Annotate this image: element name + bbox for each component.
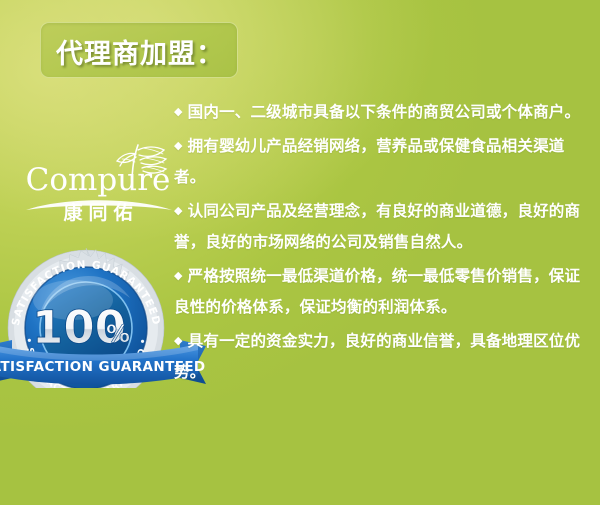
logo-chinese-name: 康同佑 <box>18 198 178 225</box>
badge-percent-symbol: % <box>106 320 130 348</box>
list-item: ◆严格按照统一最低渠道价格，统一最低零售价销售，保证良性的价格体系，保证均衡的利… <box>174 260 586 323</box>
diamond-bullet-icon: ◆ <box>174 334 183 347</box>
diamond-bullet-icon: ◆ <box>174 204 183 217</box>
list-item-text: 具有一定的资金实力，良好的商业信誉，具备地理区位优势。 <box>174 332 580 381</box>
requirements-list: ◆国内一、二级城市具备以下条件的商贸公司或个体商户。 ◆拥有婴幼儿产品经销网络，… <box>174 96 586 390</box>
list-item-text: 认同公司产品及经营理念，有良好的商业道德，良好的商誉，良好的市场网络的公司及销售… <box>174 202 580 251</box>
list-item-text: 国内一、二级城市具备以下条件的商贸公司或个体商户。 <box>188 103 581 121</box>
logo-wordmark: Compure <box>18 162 178 198</box>
brand-logo: Compure 康同佑 <box>18 148 178 226</box>
list-item-text: 拥有婴幼儿产品经销网络，营养品或保健食品相关渠道者。 <box>174 137 564 186</box>
list-item: ◆国内一、二级城市具备以下条件的商贸公司或个体商户。 <box>174 96 586 128</box>
diamond-bullet-icon: ◆ <box>174 105 183 118</box>
page-title: 代理商加盟： <box>41 23 239 79</box>
list-item-text: 严格按照统一最低渠道价格，统一最低零售价销售，保证良性的价格体系，保证均衡的利润… <box>174 267 580 316</box>
agent-recruitment-banner: 代理商加盟： Compure <box>0 0 600 505</box>
title-plaque: 代理商加盟： <box>40 22 238 78</box>
diamond-bullet-icon: ◆ <box>174 269 183 282</box>
diamond-bullet-icon: ◆ <box>174 139 183 152</box>
list-item: ◆拥有婴幼儿产品经销网络，营养品或保健食品相关渠道者。 <box>174 130 586 193</box>
list-item: ◆具有一定的资金实力，良好的商业信誉，具备地理区位优势。 <box>174 325 586 388</box>
list-item: ◆认同公司产品及经营理念，有良好的商业道德，良好的商誉，良好的市场网络的公司及销… <box>174 195 586 258</box>
